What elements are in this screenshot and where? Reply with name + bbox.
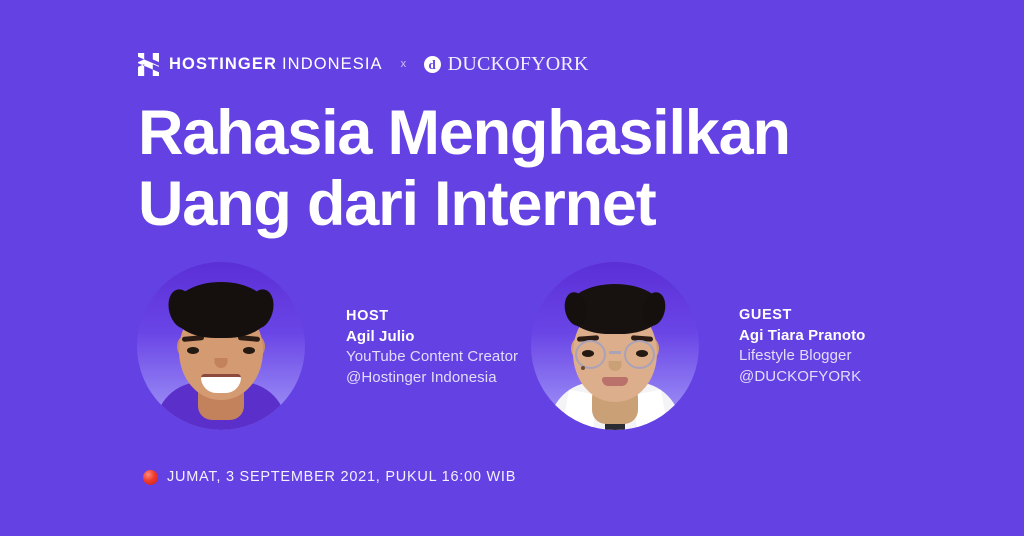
- brand-bar: HOSTINGER INDONESIA x DUCKOFYORK: [138, 50, 589, 78]
- host-eye-left: [187, 347, 199, 354]
- page-title: Rahasia Menghasilkan Uang dari Internet: [138, 98, 790, 239]
- guest-lens-right: [624, 340, 655, 369]
- host-details: HOST Agil Julio YouTube Content Creator …: [346, 262, 518, 388]
- host-eye-right: [243, 347, 255, 354]
- schedule-text: JUMAT, 3 SEPTEMBER 2021, PUKUL 16:00 WIB: [167, 469, 516, 485]
- host-role-label: HOST: [346, 307, 518, 327]
- headline-line-2: Uang dari Internet: [138, 169, 790, 240]
- guest-details: GUEST Agi Tiara Pranoto Lifestyle Blogge…: [739, 262, 865, 387]
- duckofyork-badge-icon: [424, 56, 441, 73]
- host-handle: @Hostinger Indonesia: [346, 368, 518, 388]
- guest-glasses-bridge: [609, 351, 621, 354]
- guest-title: Lifestyle Blogger: [739, 346, 865, 366]
- speaker-host: HOST Agil Julio YouTube Content Creator …: [137, 262, 518, 430]
- hostinger-light-word: INDONESIA: [282, 56, 383, 73]
- hostinger-logo-lockup: HOSTINGER INDONESIA: [138, 53, 383, 76]
- host-avatar: [137, 262, 305, 430]
- duckofyork-wordmark: DUCKOFYORK: [448, 54, 589, 74]
- headline-line-1: Rahasia Menghasilkan: [138, 98, 790, 169]
- host-name: Agil Julio: [346, 327, 518, 347]
- guest-name: Agi Tiara Pranoto: [739, 326, 865, 346]
- guest-avatar: [531, 262, 699, 430]
- duckofyork-logo-lockup: DUCKOFYORK: [424, 54, 589, 74]
- schedule-bar: JUMAT, 3 SEPTEMBER 2021, PUKUL 16:00 WIB: [143, 469, 516, 485]
- guest-lens-left: [575, 340, 606, 369]
- speaker-guest: GUEST Agi Tiara Pranoto Lifestyle Blogge…: [531, 262, 865, 430]
- brand-separator-x: x: [401, 58, 407, 70]
- guest-role-label: GUEST: [739, 306, 865, 326]
- hostinger-wordmark: HOSTINGER INDONESIA: [169, 56, 383, 73]
- guest-mole: [581, 366, 585, 370]
- red-circle-icon: [143, 470, 158, 485]
- guest-mouth: [602, 377, 628, 386]
- guest-handle: @DUCKOFYORK: [739, 367, 865, 387]
- host-title: YouTube Content Creator: [346, 347, 518, 367]
- hostinger-bold-word: HOSTINGER: [169, 56, 277, 73]
- promo-banner: HOSTINGER INDONESIA x DUCKOFYORK Rahasia…: [0, 0, 1024, 536]
- hostinger-h-mark-icon: [138, 53, 159, 76]
